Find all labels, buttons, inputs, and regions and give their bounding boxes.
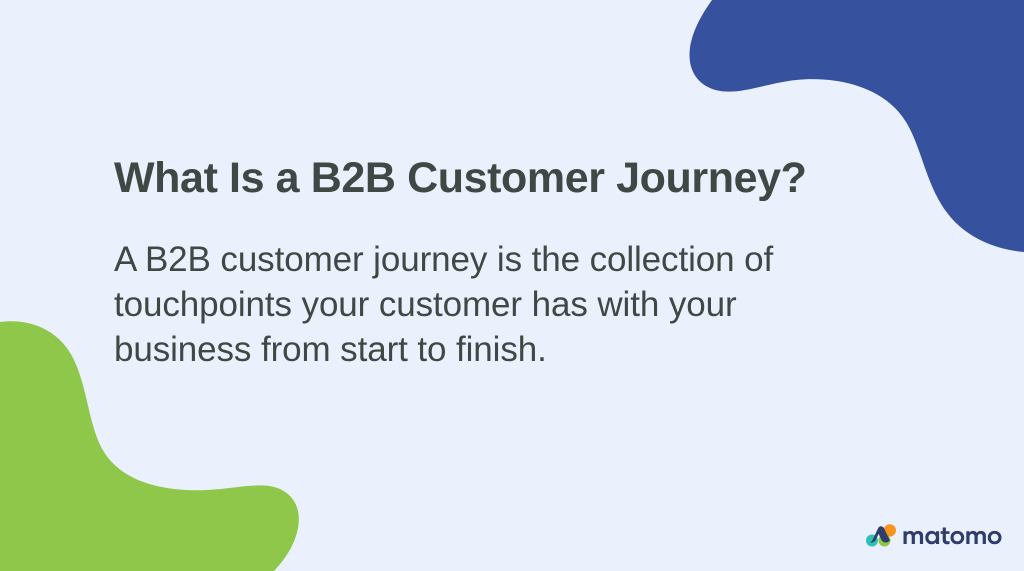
wordmark-letter-m2 <box>966 531 986 544</box>
wordmark-letter-m1 <box>904 531 924 544</box>
wordmark-letter-t <box>941 528 950 545</box>
matomo-logo <box>866 524 1002 547</box>
matomo-wordmark <box>902 524 1002 547</box>
slide-body-text: A B2B customer journey is the collection… <box>114 206 874 372</box>
page-title: What Is a B2B Customer Journey? <box>114 150 904 206</box>
wordmark-letter-a <box>925 531 939 544</box>
wordmark-letter-o2 <box>988 531 1002 544</box>
slide-content: What Is a B2B Customer Journey? A B2B cu… <box>114 150 904 372</box>
slide-canvas: What Is a B2B Customer Journey? A B2B cu… <box>0 0 1024 571</box>
matomo-logo-mark-icon <box>866 524 896 547</box>
wordmark-letter-o1 <box>951 531 965 544</box>
